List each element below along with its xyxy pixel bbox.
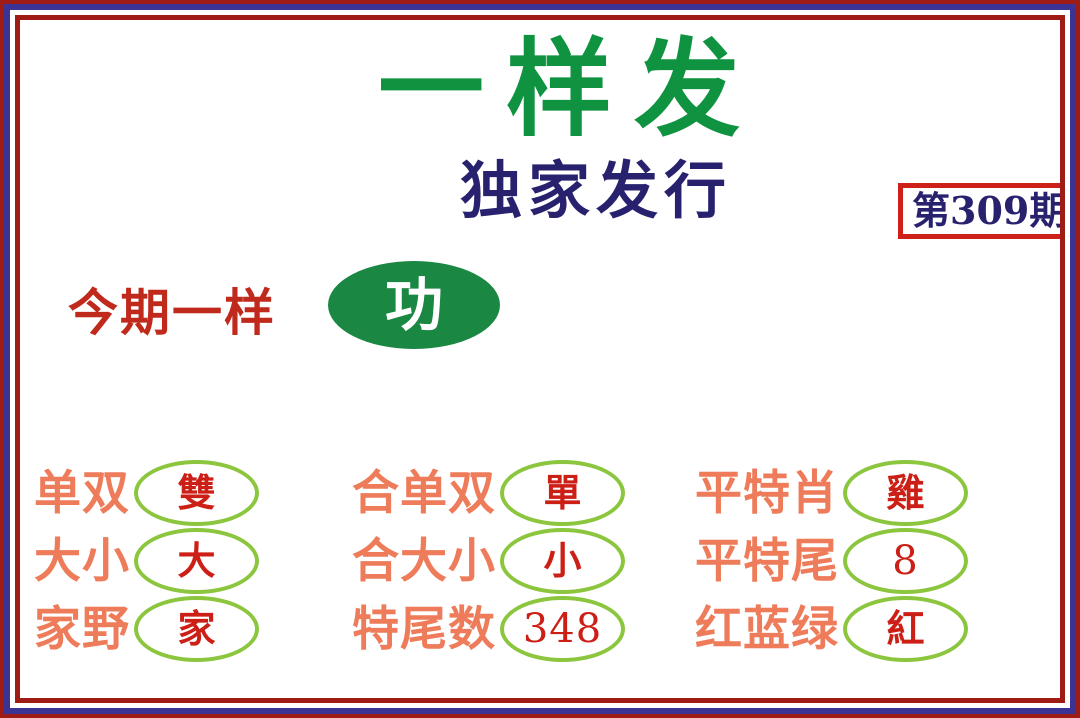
result-value-oval: 雙 — [134, 460, 259, 526]
result-row-value: 348 — [523, 609, 602, 649]
forecast-highlight-oval: 功 — [328, 261, 500, 349]
result-row-label: 合大小 — [352, 538, 496, 585]
result-row-value: 大 — [177, 542, 215, 580]
page-title: 一样发 — [270, 34, 870, 145]
result-row-label: 大小 — [34, 538, 130, 585]
result-value-oval: 單 — [500, 460, 625, 526]
result-row-label: 平特肖 — [695, 470, 839, 517]
result-value-oval: 紅 — [843, 596, 968, 662]
result-row: 红蓝绿紅 — [695, 595, 1025, 663]
result-row: 平特尾8 — [695, 527, 1025, 595]
result-row-label: 平特尾 — [695, 538, 839, 585]
result-row-value: 紅 — [886, 610, 924, 648]
result-row: 合单双單 — [352, 459, 682, 527]
result-value-oval: 小 — [500, 528, 625, 594]
result-row-value: 8 — [892, 541, 918, 581]
result-row-value: 雙 — [177, 474, 215, 512]
result-row: 单双雙 — [34, 459, 364, 527]
result-row-label: 红蓝绿 — [695, 606, 839, 653]
result-row-label: 特尾数 — [352, 606, 496, 653]
lottery-poster: 一样发 独家发行 第309期 今期一样 功 单双雙大小大家野家合单双單合大小小特… — [0, 0, 1080, 718]
forecast-label: 今期一样 — [68, 273, 276, 345]
result-row: 合大小小 — [352, 527, 682, 595]
result-value-oval: 大 — [134, 528, 259, 594]
result-row-value: 單 — [543, 474, 581, 512]
forecast-value: 功 — [385, 276, 443, 334]
result-row: 家野家 — [34, 595, 364, 663]
issue-badge-label: 第309期 — [912, 191, 1060, 231]
poster-canvas: 一样发 独家发行 第309期 今期一样 功 单双雙大小大家野家合单双單合大小小特… — [20, 20, 1060, 698]
result-row-label: 单双 — [34, 470, 130, 517]
result-row-value: 小 — [543, 542, 581, 580]
result-row-value: 雞 — [886, 474, 924, 512]
results-column-0: 单双雙大小大家野家 — [34, 455, 364, 670]
result-row-label: 家野 — [34, 606, 130, 653]
result-value-oval: 348 — [500, 596, 625, 662]
result-row: 特尾数348 — [352, 595, 682, 663]
publisher-subtitle: 独家发行 — [460, 160, 732, 222]
result-row-label: 合单双 — [352, 470, 496, 517]
result-value-oval: 雞 — [843, 460, 968, 526]
issue-badge: 第309期 — [898, 183, 1060, 239]
result-value-oval: 8 — [843, 528, 968, 594]
results-column-1: 合单双單合大小小特尾数348 — [352, 455, 682, 670]
results-grid: 单双雙大小大家野家合单双單合大小小特尾数348平特肖雞平特尾8红蓝绿紅 — [20, 455, 1060, 670]
result-row: 大小大 — [34, 527, 364, 595]
result-row: 平特肖雞 — [695, 459, 1025, 527]
result-row-value: 家 — [177, 610, 215, 648]
results-column-2: 平特肖雞平特尾8红蓝绿紅 — [695, 455, 1025, 670]
result-value-oval: 家 — [134, 596, 259, 662]
